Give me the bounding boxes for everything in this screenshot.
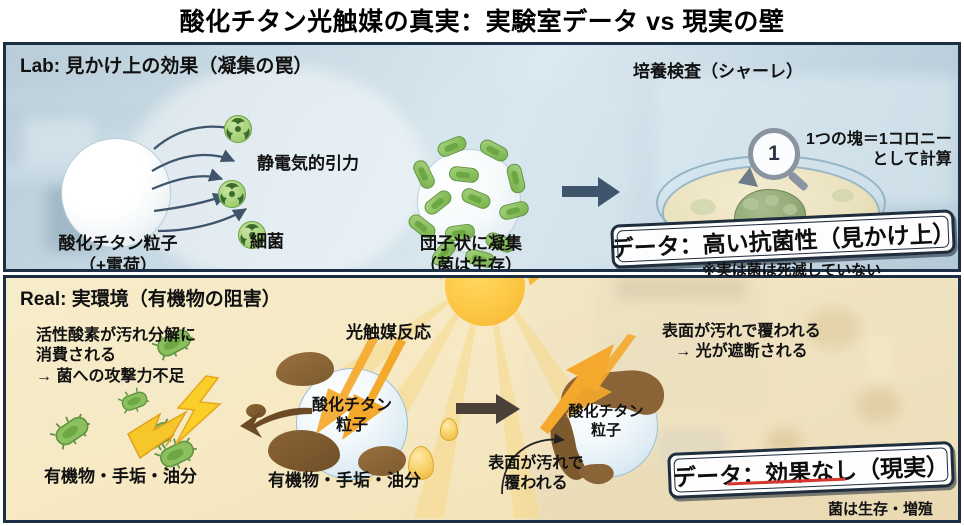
real-section-heading: Real: 実環境（有機物の阻害） [20, 284, 281, 311]
lab-callout-note: ※実は菌は死滅していない [702, 259, 881, 280]
photocatalytic-reaction-label: 光触媒反応 [346, 322, 431, 344]
colony-count-note: 1つの塊＝1コロニー として計算 [806, 130, 952, 171]
progression-arrow [456, 392, 522, 426]
flow-arrow-to-petri [562, 175, 622, 209]
organic-matter-label-left: 有機物・手垢・油分 [44, 466, 197, 488]
surface-coverage-note: 表面が汚れで覆われる → 光が遮断される [662, 322, 821, 363]
electrostatic-attraction-label: 静電気的引力 [257, 153, 359, 175]
bacteria-label: 細菌 [250, 231, 284, 253]
lab-section-heading: Lab: 見かけ上の効果（凝集の罠） [20, 51, 312, 78]
tio2-label-left: 酸化チタン 粒子 [302, 396, 402, 437]
real-callout-note: 菌は生存・増殖 [828, 498, 933, 519]
magnifier-icon: 1 [748, 128, 800, 180]
culture-test-heading: 培養検査（シャーレ） [633, 61, 803, 83]
page-title: 酸化チタン光触媒の真実：実験室データ vs 現実の壁 [0, 0, 964, 40]
covered-note: 表面が汚れで 覆われる [466, 454, 606, 495]
organic-matter-label-center: 有機物・手垢・油分 [268, 470, 421, 492]
biohazard-icon [224, 115, 252, 143]
biohazard-icon [218, 180, 246, 208]
bacteria-rod [50, 412, 94, 450]
infographic-page: 酸化チタン光触媒の真実：実験室データ vs 現実の壁 Lab: 見かけ上の効果（… [0, 0, 964, 526]
clump-label: 団子状に凝集 （菌は生存） [384, 233, 558, 272]
magnifier-count: 1 [748, 128, 800, 180]
ros-consumption-note: 活性酸素が汚れ分解に 消費される → 菌への攻撃力不足 [36, 326, 196, 387]
tio2-particle-label-lab: 酸化チタン粒子 （+電荷） [43, 233, 193, 272]
tio2-label-right: 酸化チタン 粒子 [558, 402, 654, 440]
lightning-bolt-icon [126, 406, 200, 462]
sun-icon [431, 275, 539, 340]
